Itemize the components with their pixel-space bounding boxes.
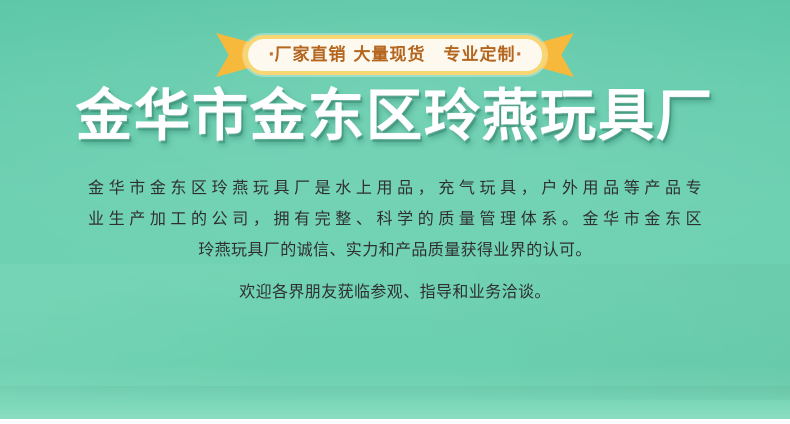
tagline-pill: · 厂家直销 大量现货 专业定制 ·: [244, 35, 546, 75]
description-line-1: 金华市金东区玲燕玩具厂是水上用品，充气玩具，户外用品等产品专: [88, 172, 702, 203]
tagline-ribbon: · 厂家直销 大量现货 专业定制 ·: [216, 28, 574, 82]
description-line-2: 业生产加工的公司，拥有完整、科学的质量管理体系。金华市金东区: [88, 203, 702, 234]
company-intro-banner: · 厂家直销 大量现货 专业定制 · 金华市金东区玲燕玩具厂 金华市金东区玲燕玩…: [0, 0, 790, 424]
bullet-dot-right-icon: ·: [515, 47, 521, 64]
company-name-title: 金华市金东区玲燕玩具厂: [0, 88, 790, 147]
description-line-3: 玲燕玩具厂的诚信、实力和产品质量获得业界的认可。: [88, 234, 702, 265]
company-description: 金华市金东区玲燕玩具厂是水上用品，充气玩具，户外用品等产品专 业生产加工的公司，…: [88, 172, 702, 307]
description-line-4: 欢迎各界朋友莸临参观、指导和业务洽谈。: [88, 276, 702, 307]
tagline-text: 厂家直销 大量现货 专业定制: [275, 47, 516, 64]
